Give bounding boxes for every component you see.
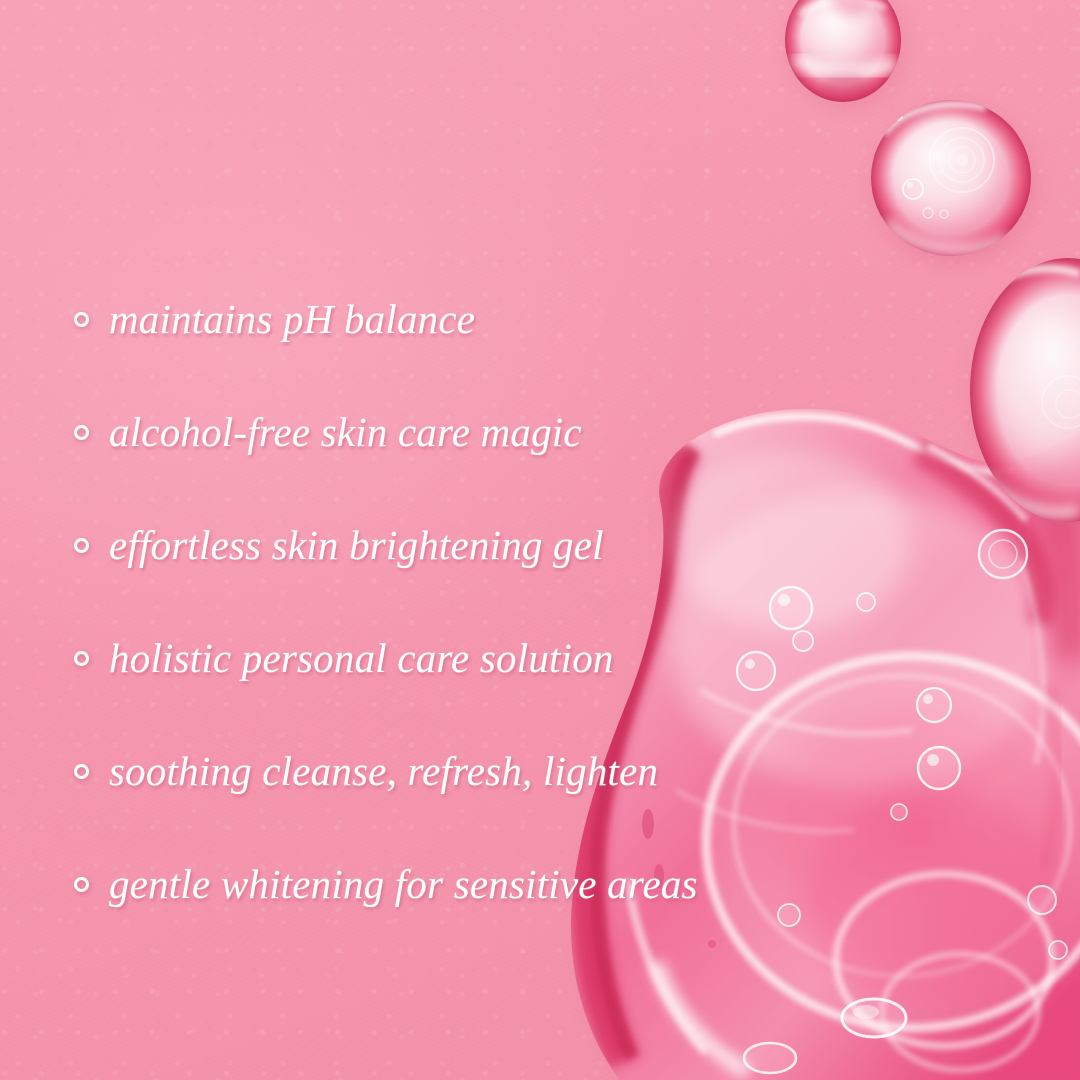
hollow-circle-bullet-icon: [74, 651, 89, 666]
list-item: effortless skin brightening gel: [74, 489, 1014, 602]
product-benefits-graphic: maintains pH balance alcohol-free skin c…: [0, 0, 1080, 1080]
benefit-label: alcohol-free skin care magic: [109, 412, 582, 453]
hollow-circle-bullet-icon: [74, 764, 89, 779]
list-item: soothing cleanse, refresh, lighten: [74, 715, 1014, 828]
benefit-label: holistic personal care solution: [109, 638, 614, 679]
hollow-circle-bullet-icon: [74, 312, 89, 327]
hollow-circle-bullet-icon: [74, 877, 89, 892]
gel-droplet-top-oval: [785, 0, 904, 107]
gel-droplet-upper-round: [871, 100, 1034, 263]
list-item: holistic personal care solution: [74, 602, 1014, 715]
hollow-circle-bullet-icon: [74, 538, 89, 553]
hollow-circle-bullet-icon: [74, 425, 89, 440]
benefits-list: maintains pH balance alcohol-free skin c…: [74, 263, 1014, 941]
list-item: alcohol-free skin care magic: [74, 376, 1014, 489]
benefit-label: maintains pH balance: [109, 299, 475, 340]
benefit-label: gentle whitening for sensitive areas: [109, 864, 698, 905]
list-item: maintains pH balance: [74, 263, 1014, 376]
list-item: gentle whitening for sensitive areas: [74, 828, 1014, 941]
benefit-label: effortless skin brightening gel: [109, 525, 604, 566]
benefit-label: soothing cleanse, refresh, lighten: [109, 751, 658, 792]
